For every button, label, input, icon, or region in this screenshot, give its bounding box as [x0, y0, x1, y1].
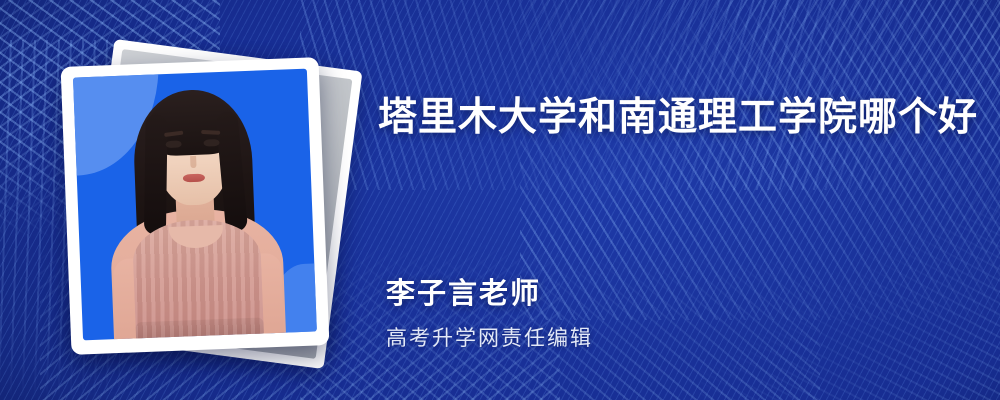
portrait-figure	[73, 69, 317, 341]
portrait-dress	[132, 218, 265, 341]
portrait-eye-left	[165, 140, 181, 148]
banner-text-column: 塔里木大学和南通理工学院哪个好 李子言老师 高考升学网责任编辑	[378, 0, 978, 400]
portrait-photo-frame	[61, 57, 330, 355]
portrait-eyebrow-right	[201, 130, 220, 135]
article-header-banner: 塔里木大学和南通理工学院哪个好 李子言老师 高考升学网责任编辑	[0, 0, 1000, 400]
portrait-dress-collar	[169, 225, 224, 249]
portrait-card-stack	[58, 40, 358, 360]
page-title: 塔里木大学和南通理工学院哪个好	[378, 96, 978, 141]
portrait-eye-right	[203, 139, 219, 147]
portrait-nose	[190, 156, 196, 168]
author-name: 李子言老师	[386, 270, 541, 312]
author-role-label: 高考升学网责任编辑	[386, 322, 593, 352]
portrait-photo	[73, 69, 317, 341]
